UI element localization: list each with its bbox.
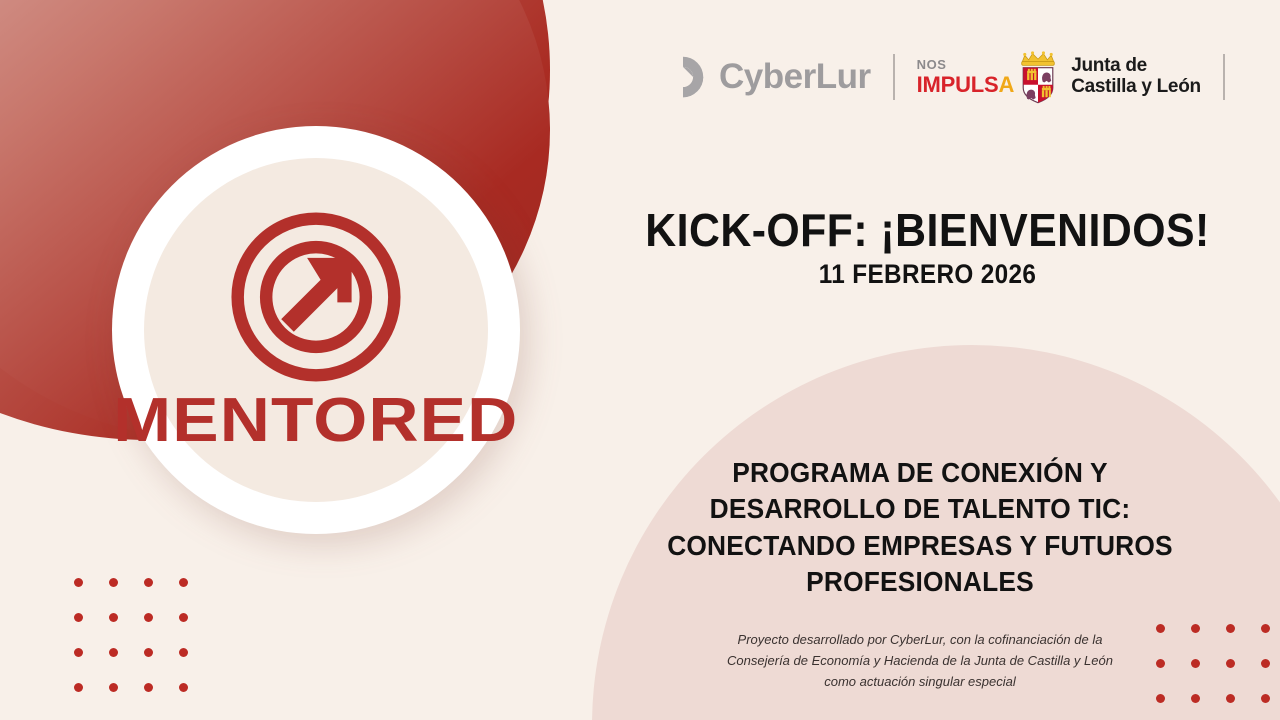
dot: [1226, 659, 1235, 668]
dot: [179, 578, 188, 587]
castilla-y-leon-crest-icon: [1014, 49, 1062, 105]
program-note-line: como actuación singular especial: [640, 671, 1200, 692]
junta-wordmark: Junta de Castilla y León: [1071, 56, 1201, 98]
presentation-slide: MENTORED CyberLur NOS IMPULSA: [0, 0, 1280, 720]
dot: [179, 613, 188, 622]
mentored-badge: MENTORED: [112, 126, 520, 534]
dot: [144, 613, 153, 622]
target-growth-arrow-icon: [227, 208, 405, 386]
program-title: PROGRAMA DE CONEXIÓN Y DESARROLLO DE TAL…: [657, 455, 1183, 601]
dot: [1156, 694, 1165, 703]
dot: [74, 613, 83, 622]
junta-castilla-leon-logo: Junta de Castilla y León: [1014, 49, 1201, 105]
program-title-line: CONECTANDO EMPRESAS Y FUTUROS: [657, 528, 1183, 564]
sponsor-logo-bar: CyberLur NOS IMPULSA: [660, 46, 1247, 108]
dot: [109, 613, 118, 622]
program-block: PROGRAMA DE CONEXIÓN Y DESARROLLO DE TAL…: [640, 455, 1200, 692]
dot: [109, 578, 118, 587]
dot: [144, 648, 153, 657]
cyberlur-c-icon: [660, 54, 706, 100]
headline-block: KICK-OFF: ¡BIENVENIDOS! 11 FEBRERO 2026: [575, 206, 1280, 290]
mentored-wordmark: MENTORED: [113, 390, 518, 452]
logo-divider-1: [893, 54, 895, 100]
program-funding-note: Proyecto desarrollado por CyberLur, con …: [640, 629, 1200, 692]
program-title-line: PROGRAMA DE CONEXIÓN Y: [657, 455, 1183, 491]
dot: [1261, 694, 1270, 703]
dot: [1261, 624, 1270, 633]
dot: [1191, 694, 1200, 703]
decorative-dot-grid-left: [74, 578, 188, 692]
impulsa-main-text: IMPULSA: [917, 74, 1015, 96]
dot: [144, 578, 153, 587]
impulsa-nos-text: NOS: [917, 58, 1015, 71]
program-title-line: DESARROLLO DE TALENTO TIC:: [657, 491, 1183, 527]
mentored-badge-face: MENTORED: [144, 158, 488, 502]
slide-title: KICK-OFF: ¡BIENVENIDOS!: [600, 206, 1256, 254]
impulsa-word: IMPULS: [917, 74, 999, 96]
program-title-line: PROFESIONALES: [657, 564, 1183, 600]
dot: [179, 648, 188, 657]
program-note-line: Consejería de Economía y Hacienda de la …: [640, 650, 1200, 671]
program-note-line: Proyecto desarrollado por CyberLur, con …: [640, 629, 1200, 650]
junta-line-2: Castilla y León: [1071, 76, 1201, 97]
dot: [74, 648, 83, 657]
dot: [1226, 694, 1235, 703]
dot: [109, 683, 118, 692]
cyberlur-wordmark: CyberLur: [719, 57, 871, 97]
dot: [74, 683, 83, 692]
cyberlur-logo: CyberLur: [660, 54, 871, 100]
dot: [74, 578, 83, 587]
dot: [1226, 624, 1235, 633]
slide-date: 11 FEBRERO 2026: [610, 260, 1245, 290]
dot: [179, 683, 188, 692]
junta-line-1: Junta de: [1071, 55, 1147, 76]
dot: [109, 648, 118, 657]
dot: [1261, 659, 1270, 668]
nos-impulsa-logo: NOS IMPULSA: [917, 58, 1015, 96]
impulsa-accent-letter: A: [999, 74, 1015, 96]
logo-divider-2: [1223, 54, 1225, 100]
dot: [144, 683, 153, 692]
